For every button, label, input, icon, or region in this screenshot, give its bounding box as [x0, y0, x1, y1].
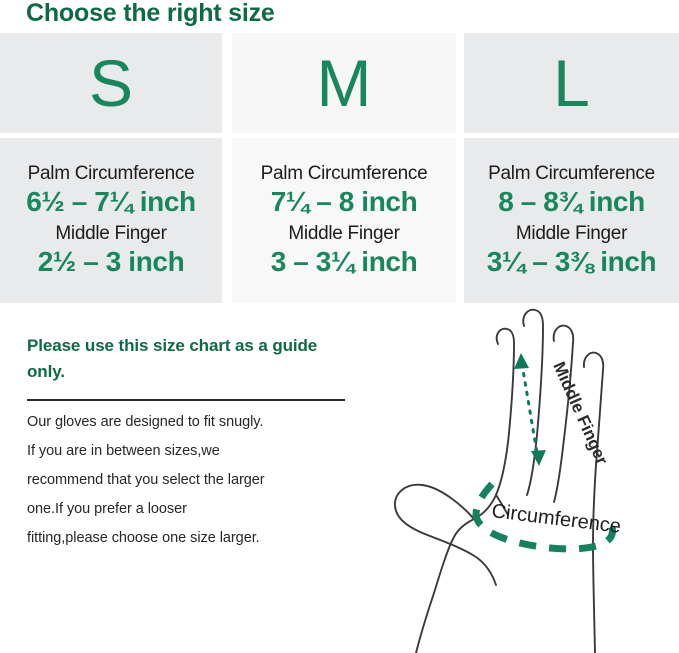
size-header-row: S M L — [0, 33, 679, 133]
palm-circumference-value-s: 6½ – 7¼ inch — [26, 186, 196, 218]
page-title: Choose the right size — [26, 0, 275, 28]
size-letter-box-l: L — [464, 33, 679, 133]
guide-note: Please use this size chart as a guide on… — [27, 333, 357, 558]
measurement-cell-m: Palm Circumference 7¼ – 8 inch Middle Fi… — [232, 138, 456, 303]
note-line: fitting,please choose one size larger. — [27, 529, 357, 547]
measurement-column-s: Palm Circumference 6½ – 7¼ inch Middle F… — [0, 138, 222, 303]
palm-circumference-label-l: Palm Circumference — [488, 163, 655, 185]
palm-circumference-label-s: Palm Circumference — [28, 163, 195, 185]
middle-finger-value-m: 3 – 3¼ inch — [271, 246, 418, 278]
size-column-s: S — [0, 33, 222, 133]
size-column-m: M — [232, 33, 456, 133]
palm-circumference-value-m: 7¼ – 8 inch — [271, 186, 418, 218]
measurement-cell-l: Palm Circumference 8 – 8¾ inch Middle Fi… — [464, 138, 679, 303]
middle-finger-label-l: Middle Finger — [516, 223, 627, 245]
middle-finger-label-m: Middle Finger — [288, 223, 399, 245]
note-heading: Please use this size chart as a guide on… — [27, 333, 357, 385]
palm-circumference-label-m: Palm Circumference — [261, 163, 428, 185]
note-line: If you are in between sizes,we — [27, 442, 357, 460]
measurement-cell-s: Palm Circumference 6½ – 7¼ inch Middle F… — [0, 138, 222, 303]
note-body: Our gloves are designed to fit snugly. I… — [27, 413, 357, 548]
circumference-diagram-label: Circumference — [490, 500, 622, 538]
hand-outline-icon — [395, 310, 603, 653]
note-line: one.If you prefer a looser — [27, 500, 357, 518]
hand-measurement-diagram: Middle Finger Circumference — [378, 305, 679, 653]
size-letter-box-m: M — [232, 33, 456, 133]
note-line: Our gloves are designed to fit snugly. — [27, 413, 357, 431]
size-letter-m: M — [317, 50, 372, 116]
size-letter-box-s: S — [0, 33, 222, 133]
size-measurement-row: Palm Circumference 6½ – 7¼ inch Middle F… — [0, 138, 679, 303]
middle-finger-value-l: 3¼ – 3⅜ inch — [487, 246, 657, 278]
measurement-column-m: Palm Circumference 7¼ – 8 inch Middle Fi… — [232, 138, 456, 303]
middle-finger-label-s: Middle Finger — [55, 223, 166, 245]
size-chart-table: S M L Palm Circumference 6½ – 7¼ inch Mi… — [0, 33, 679, 303]
palm-circumference-value-l: 8 – 8¾ inch — [498, 186, 645, 218]
note-divider — [27, 399, 345, 401]
middle-finger-value-s: 2½ – 3 inch — [38, 246, 185, 278]
size-letter-s: S — [89, 50, 133, 116]
note-line: recommend that you select the larger — [27, 471, 357, 489]
size-column-l: L — [464, 33, 679, 133]
size-letter-l: L — [553, 50, 590, 116]
measurement-column-l: Palm Circumference 8 – 8¾ inch Middle Fi… — [464, 138, 679, 303]
